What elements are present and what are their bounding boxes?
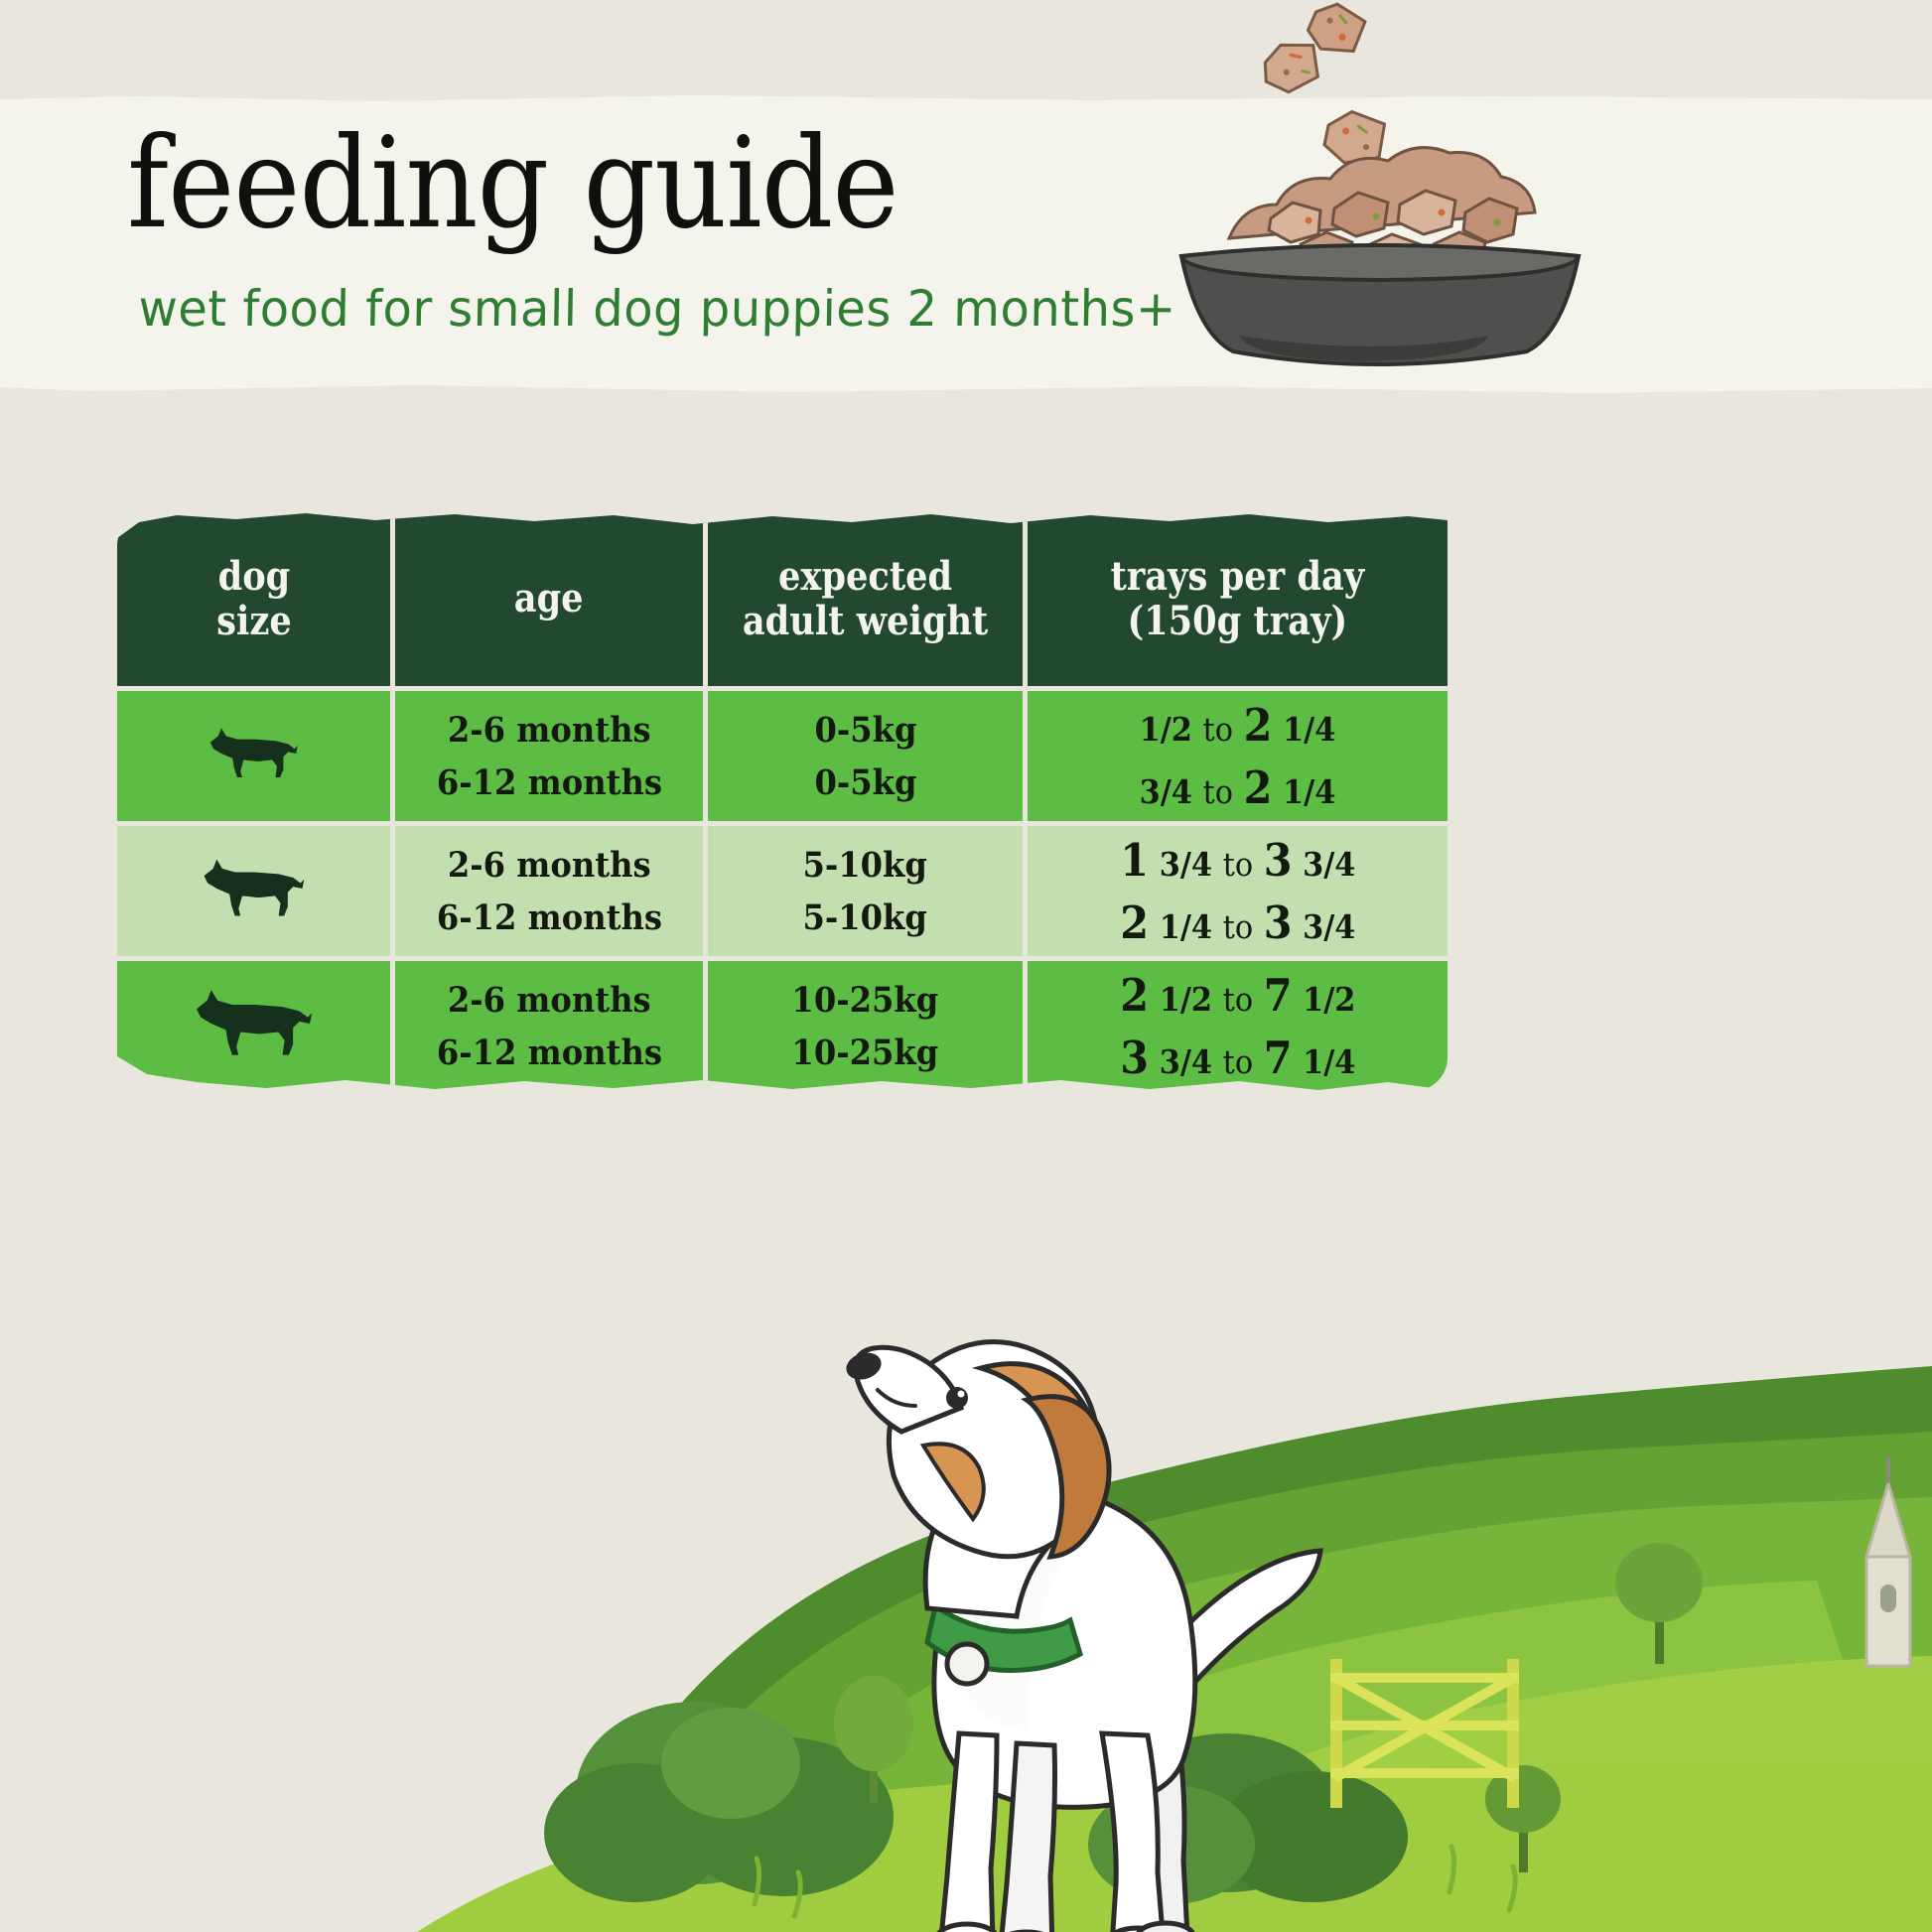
infographic-root: feeding guide wet food for small dog pup… bbox=[0, 0, 1932, 1932]
weight-value: 5-10kg bbox=[803, 848, 927, 883]
table-row: 2-6 months 6-12 months 10-25kg 10-25kg 2… bbox=[117, 961, 1448, 1091]
small-dog-icon bbox=[206, 725, 301, 787]
table-header-row: dog size age expected adult weight trays… bbox=[117, 512, 1448, 686]
cell-age: 2-6 months 6-12 months bbox=[395, 826, 708, 956]
cell-dog-size bbox=[117, 691, 395, 821]
trays-value: 3/4 to 2 1/4 bbox=[1140, 765, 1336, 810]
large-dog-icon bbox=[190, 986, 317, 1066]
cell-trays-per-day: 1 3/4 to 3 3/4 2 1/4 to 3 3/4 bbox=[1028, 826, 1448, 956]
trays-value: 1/2 to 2 1/4 bbox=[1140, 703, 1336, 748]
trays-value: 2 1/2 to 7 1/2 bbox=[1120, 973, 1355, 1018]
column-header-line: adult weight bbox=[743, 600, 988, 644]
weight-value: 10-25kg bbox=[792, 983, 939, 1018]
column-header-dog-size: dog size bbox=[117, 512, 395, 686]
weight-value: 5-10kg bbox=[803, 900, 927, 935]
trays-value: 1 3/4 to 3 3/4 bbox=[1120, 838, 1355, 883]
weight-value: 0-5kg bbox=[814, 765, 916, 800]
table-row: 2-6 months 6-12 months 5-10kg 5-10kg 1 3… bbox=[117, 826, 1448, 956]
column-header-line: (150g tray) bbox=[1110, 600, 1364, 644]
column-header-line: age bbox=[514, 577, 584, 621]
page-title: feeding guide bbox=[127, 121, 898, 246]
cell-expected-adult-weight: 10-25kg 10-25kg bbox=[708, 961, 1027, 1091]
age-value: 6-12 months bbox=[437, 1035, 662, 1070]
age-value: 6-12 months bbox=[437, 765, 662, 800]
column-header-line: size bbox=[216, 600, 292, 644]
cell-expected-adult-weight: 0-5kg 0-5kg bbox=[708, 691, 1027, 821]
weight-value: 0-5kg bbox=[814, 713, 916, 748]
column-header-line: dog bbox=[216, 555, 292, 600]
cell-age: 2-6 months 6-12 months bbox=[395, 961, 708, 1091]
feeding-table: dog size age expected adult weight trays… bbox=[117, 512, 1448, 1078]
cell-dog-size bbox=[117, 961, 395, 1091]
column-header-line: trays per day bbox=[1110, 555, 1364, 600]
trays-value: 3 3/4 to 7 1/4 bbox=[1120, 1035, 1355, 1080]
trays-value: 2 1/4 to 3 3/4 bbox=[1120, 900, 1355, 945]
weight-value: 10-25kg bbox=[792, 1035, 939, 1070]
cell-age: 2-6 months 6-12 months bbox=[395, 691, 708, 821]
age-value: 6-12 months bbox=[437, 900, 662, 935]
dog-food-bowl-illustration bbox=[1152, 0, 1648, 367]
age-value: 2-6 months bbox=[448, 848, 651, 883]
column-header-trays-per-day: trays per day (150g tray) bbox=[1028, 512, 1448, 686]
age-value: 2-6 months bbox=[448, 713, 651, 748]
column-header-line: expected bbox=[743, 555, 988, 600]
page-subtitle: wet food for small dog puppies 2 months+ bbox=[138, 284, 1176, 334]
age-value: 2-6 months bbox=[448, 983, 651, 1018]
column-header-expected-adult-weight: expected adult weight bbox=[708, 512, 1027, 686]
cell-expected-adult-weight: 5-10kg 5-10kg bbox=[708, 826, 1027, 956]
bowl-icon bbox=[1181, 245, 1579, 364]
kibble-icon bbox=[1259, 39, 1321, 96]
medium-dog-icon bbox=[198, 856, 309, 926]
column-header-age: age bbox=[395, 512, 708, 686]
cell-trays-per-day: 2 1/2 to 7 1/2 3 3/4 to 7 1/4 bbox=[1028, 961, 1448, 1091]
puppy-in-green-countryside-illustration bbox=[0, 1297, 1932, 1932]
cell-dog-size bbox=[117, 826, 395, 956]
table-row: 2-6 months 6-12 months 0-5kg 0-5kg 1/2 t… bbox=[117, 691, 1448, 821]
cell-trays-per-day: 1/2 to 2 1/4 3/4 to 2 1/4 bbox=[1028, 691, 1448, 821]
